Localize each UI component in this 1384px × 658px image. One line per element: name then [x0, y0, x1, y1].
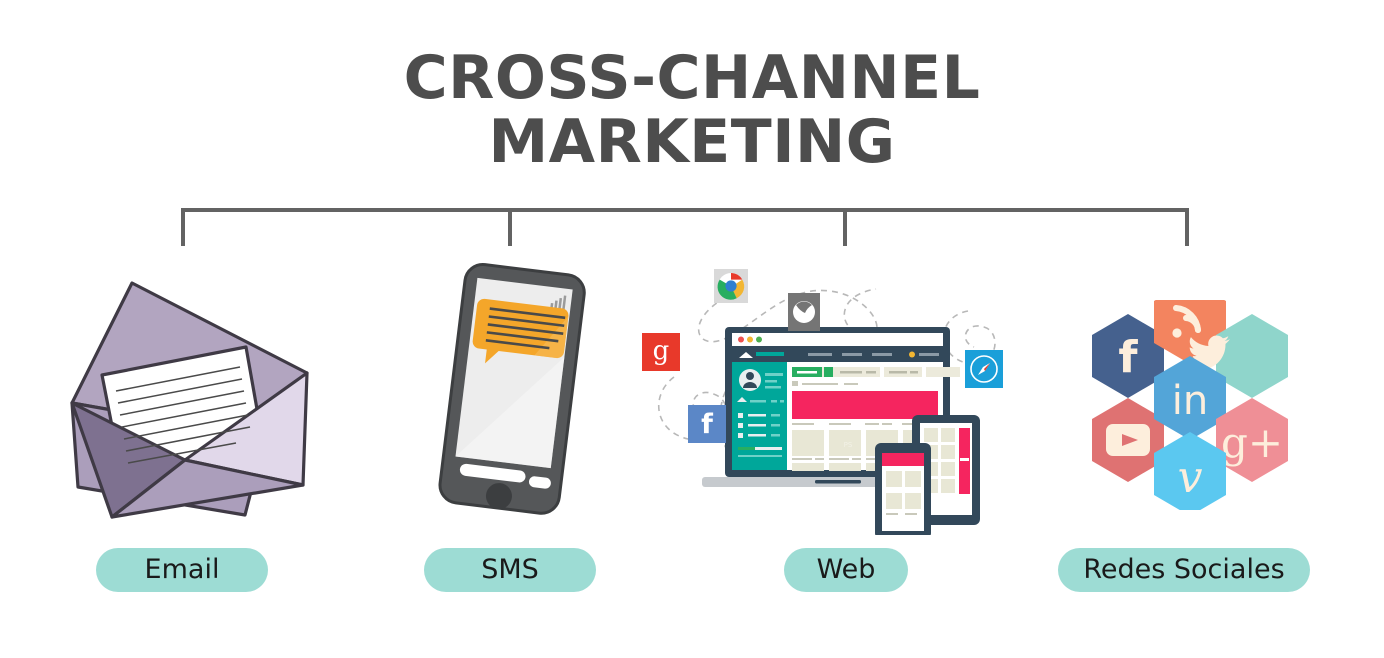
phone — [875, 443, 931, 535]
svg-text:f: f — [1118, 332, 1138, 383]
infographic-canvas: CROSS-CHANNEL MARKETING — [0, 0, 1384, 658]
chrome-icon — [714, 269, 748, 303]
page-title: CROSS-CHANNEL MARKETING — [0, 46, 1384, 174]
svg-text:f: f — [701, 409, 713, 440]
facebook-icon: f — [688, 405, 726, 443]
svg-text:g: g — [653, 336, 670, 366]
window-dot-green — [756, 337, 762, 343]
linkedin-hex: in — [1154, 356, 1226, 440]
google-icon: g — [642, 333, 680, 371]
promo-banner — [792, 391, 938, 419]
vimeo-hex: v — [1154, 432, 1226, 510]
safari-icon — [965, 350, 1003, 388]
channel-label-sms[interactable]: SMS — [424, 548, 596, 592]
svg-text:v: v — [1178, 452, 1203, 503]
envelope-letter-icon — [60, 255, 330, 535]
window-dot-red — [738, 337, 744, 343]
youtube-hex — [1092, 398, 1164, 482]
laptop-tablet-phone-icon: PS — [640, 255, 1060, 535]
svg-text:in: in — [1172, 378, 1208, 424]
social-hexagon-cluster-icon: f — [1080, 300, 1300, 510]
channel-label-web[interactable]: Web — [784, 548, 908, 592]
window-dot-yellow — [747, 337, 753, 343]
globe-browser-icon — [788, 293, 820, 331]
smartphone-chat-icon — [418, 255, 608, 525]
bracket-connector — [0, 190, 1384, 260]
channel-redes-sociales: f — [1080, 300, 1300, 650]
screen-watermark: PS — [844, 441, 853, 449]
googleplus-hex: g+ — [1216, 398, 1288, 482]
channel-label-email[interactable]: Email — [96, 548, 268, 592]
facebook-hex: f — [1092, 314, 1164, 398]
channel-label-redes-sociales[interactable]: Redes Sociales — [1058, 548, 1310, 592]
svg-text:g+: g+ — [1221, 418, 1283, 467]
